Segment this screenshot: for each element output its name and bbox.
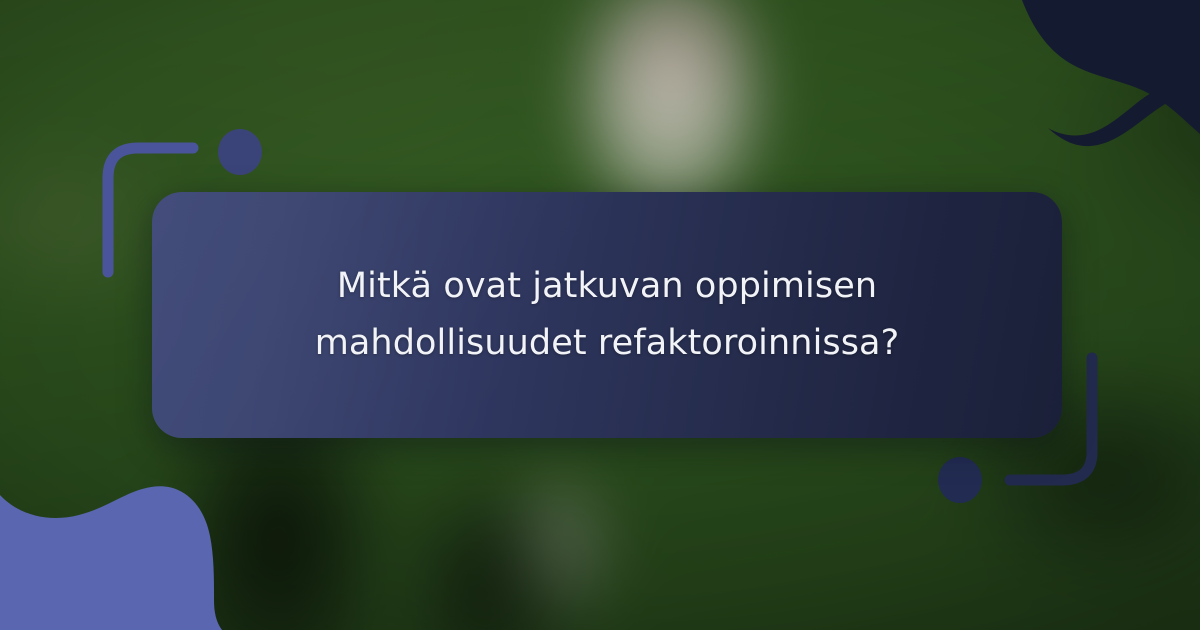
quote-text: Mitkä ovat jatkuvan oppimisen mahdollisu… xyxy=(217,258,997,371)
quote-card: Mitkä ovat jatkuvan oppimisen mahdollisu… xyxy=(152,192,1062,438)
bottom-right-dot-icon xyxy=(938,457,982,503)
top-left-dot-icon xyxy=(218,129,262,175)
social-quote-card-canvas: Mitkä ovat jatkuvan oppimisen mahdollisu… xyxy=(0,0,1200,630)
